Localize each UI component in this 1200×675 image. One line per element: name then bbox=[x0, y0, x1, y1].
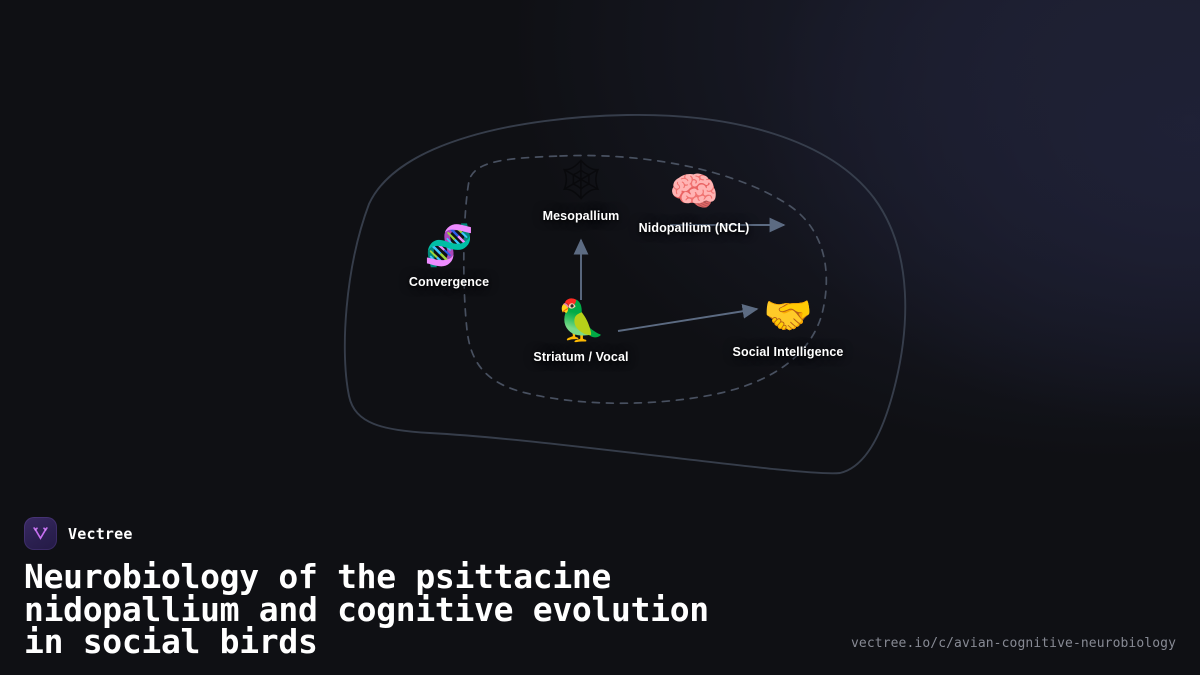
dna-icon: 🧬 bbox=[424, 224, 474, 268]
card-footer: Vectree Neurobiology of the psittacine n… bbox=[0, 490, 1200, 675]
node-label-striatum-vocal: Striatum / Vocal bbox=[533, 350, 628, 364]
node-label-mesopallium: Mesopallium bbox=[543, 209, 620, 223]
parrot-icon: 🦜 bbox=[556, 299, 606, 343]
brand-row[interactable]: Vectree bbox=[24, 517, 133, 550]
node-social-intelligence[interactable]: 🤝 Social Intelligence bbox=[713, 294, 863, 359]
diagram-canvas bbox=[0, 0, 1200, 500]
spider-web-icon: 🕸 bbox=[556, 158, 607, 202]
node-nidopallium[interactable]: 🧠 Nidopallium (NCL) bbox=[619, 170, 769, 235]
source-url: vectree.io/c/avian-cognitive-neurobiolog… bbox=[851, 636, 1176, 651]
node-convergence[interactable]: 🧬 Convergence bbox=[374, 224, 524, 289]
concept-diagram: 🧬 Convergence 🕸 Mesopallium 🧠 Nidopalliu… bbox=[0, 0, 1200, 500]
page-title: Neurobiology of the psittacine nidopalli… bbox=[24, 561, 844, 659]
node-striatum-vocal[interactable]: 🦜 Striatum / Vocal bbox=[506, 299, 656, 364]
node-label-convergence: Convergence bbox=[409, 275, 489, 289]
brand-name: Vectree bbox=[68, 525, 133, 543]
handshake-icon: 🤝 bbox=[763, 294, 813, 338]
brain-icon: 🧠 bbox=[669, 170, 719, 214]
share-card: 🧬 Convergence 🕸 Mesopallium 🧠 Nidopalliu… bbox=[0, 0, 1200, 675]
node-label-social-intelligence: Social Intelligence bbox=[733, 345, 844, 359]
node-label-nidopallium: Nidopallium (NCL) bbox=[639, 221, 750, 235]
vectree-logo-icon bbox=[24, 517, 57, 550]
